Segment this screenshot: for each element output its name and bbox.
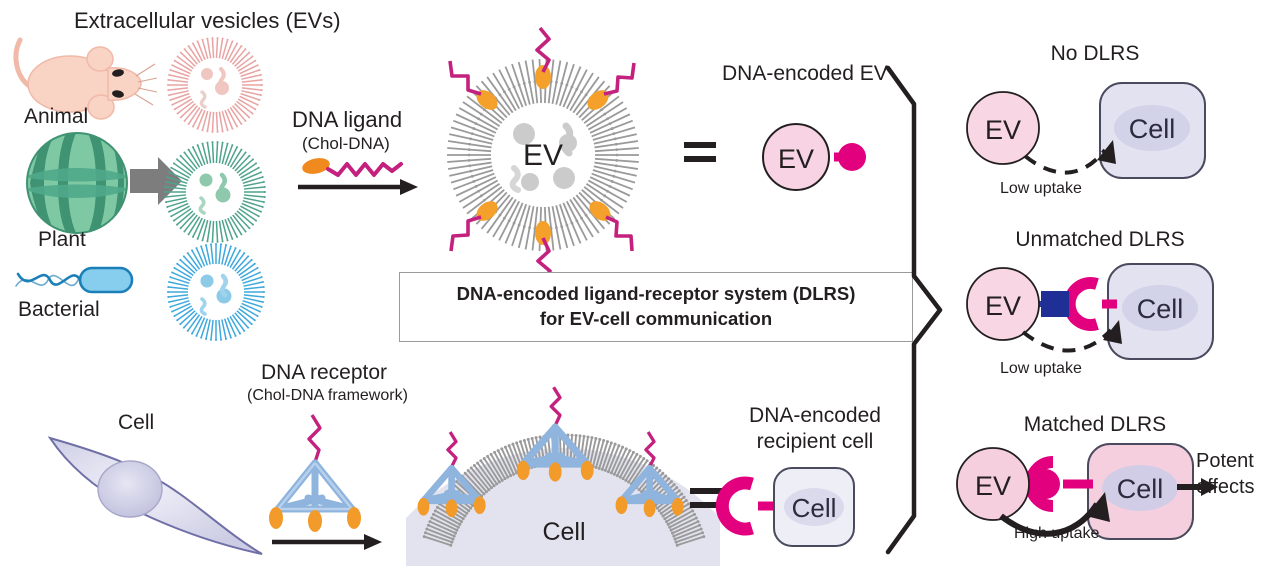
dna-encoded-cell-symbol: Cell bbox=[730, 458, 870, 554]
dna-encoded-cell-caption-line2: recipient cell bbox=[740, 430, 890, 454]
dlrs-title-line1: DNA-encoded ligand-receptor system (DLRS… bbox=[457, 283, 856, 304]
potent-effects-line1: Potent bbox=[1196, 450, 1254, 473]
dlrs-title-box: DNA-encoded ligand-receptor system (DLRS… bbox=[399, 272, 913, 342]
scenario-unmatched-dlrs-diagram: Cell EV bbox=[955, 258, 1245, 370]
dna-encoded-cell-caption-line1: DNA-encoded bbox=[740, 404, 890, 428]
ev-vesicle-animal bbox=[166, 36, 264, 134]
dna-receptor-title: DNA receptor bbox=[261, 361, 387, 385]
ev-vesicle-bacterial bbox=[166, 242, 266, 342]
potent-effects-line2: effects bbox=[1196, 476, 1255, 499]
dna-ligand-subtitle: (Chol-DNA) bbox=[302, 134, 390, 154]
scenario-no-dlrs-uptake: Low uptake bbox=[1000, 180, 1082, 198]
dna-encoded-ev-caption: DNA-encoded EV bbox=[722, 62, 888, 86]
source-plant bbox=[22, 131, 132, 236]
source-bacterial-label: Bacterial bbox=[18, 298, 100, 322]
source-animal-label: Animal bbox=[24, 105, 88, 129]
ev-vesicle-plant bbox=[163, 140, 267, 244]
dna-tetrahedron-icon bbox=[260, 406, 370, 526]
svg-text:EV: EV bbox=[985, 115, 1021, 145]
svg-text:Cell: Cell bbox=[1129, 114, 1176, 144]
source-plant-label: Plant bbox=[38, 228, 86, 252]
dna-receptor-subtitle: (Chol-DNA framework) bbox=[247, 387, 408, 405]
svg-text:EV: EV bbox=[985, 291, 1021, 321]
scenario-matched-dlrs-title: Matched DLRS bbox=[990, 413, 1200, 437]
dna-ligand-arrow bbox=[298, 176, 420, 198]
dlrs-title-line2: for EV-cell communication bbox=[540, 308, 772, 329]
dna-encoded-ev-symbol: EV bbox=[756, 118, 872, 196]
membrane-cell-label: Cell bbox=[542, 518, 585, 546]
scenario-no-dlrs-title: No DLRS bbox=[1010, 42, 1180, 66]
fibroblast-cell-icon bbox=[48, 432, 268, 557]
svg-text:Cell: Cell bbox=[792, 493, 837, 523]
dna-encoded-vesicle-illustration: EV bbox=[418, 30, 668, 280]
dna-ligand-title: DNA ligand bbox=[292, 107, 402, 133]
ev-core-label: EV bbox=[523, 139, 563, 172]
scenario-no-dlrs-diagram: Cell EV bbox=[955, 78, 1245, 188]
svg-text:EV: EV bbox=[778, 144, 814, 174]
dna-receptor-arrow bbox=[272, 532, 384, 552]
equals-sign-top bbox=[684, 140, 718, 166]
scenario-unmatched-dlrs-title: Unmatched DLRS bbox=[985, 228, 1215, 252]
watermelon-icon bbox=[22, 131, 132, 236]
scenario-matched-dlrs-uptake: High uptake bbox=[1014, 525, 1099, 543]
svg-text:Cell: Cell bbox=[1117, 474, 1164, 504]
scenario-unmatched-dlrs-uptake: Low uptake bbox=[1000, 360, 1082, 378]
curly-brace-right-icon bbox=[884, 64, 946, 556]
svg-text:Cell: Cell bbox=[1137, 294, 1184, 324]
decorated-cell-membrane: Cell bbox=[398, 400, 728, 566]
svg-text:EV: EV bbox=[975, 471, 1011, 501]
